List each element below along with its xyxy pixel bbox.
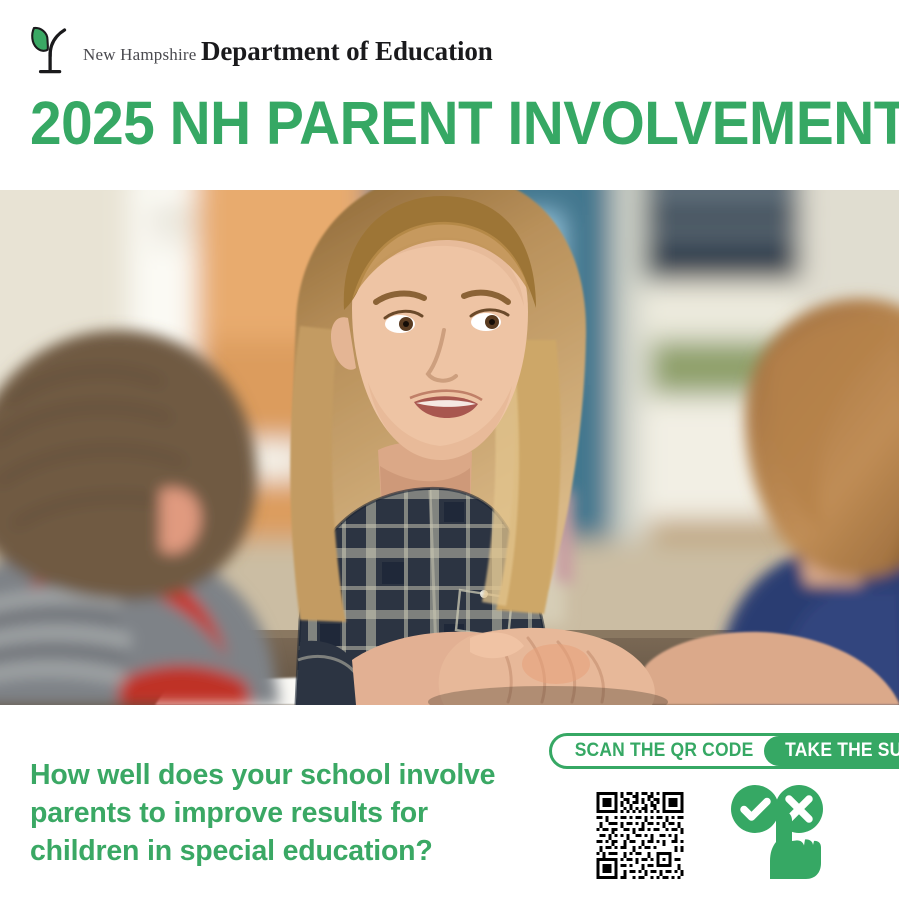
sprout-seedling-icon <box>26 26 72 76</box>
qr-code-icon[interactable] <box>590 792 690 879</box>
take-survey-label: TAKE THE SURVEY <box>785 740 899 762</box>
poster-header: New Hampshire Department of Education 20… <box>0 0 899 190</box>
survey-question: How well does your school involve parent… <box>30 756 530 871</box>
survey-answer-icons <box>726 783 830 883</box>
hero-photo <box>0 190 899 705</box>
take-survey-button[interactable]: TAKE THE SURVEY <box>764 736 899 766</box>
page-title: 2025 NH PARENT INVOLVEMENT SURVEY: <box>30 93 830 154</box>
scan-qr-label: SCAN THE QR CODE <box>561 736 765 766</box>
check-circle-icon <box>731 785 779 833</box>
logo-wordmark: New Hampshire Department of Education <box>83 38 493 65</box>
logo-department-line: Department of Education <box>201 36 493 66</box>
poster-footer: How well does your school involve parent… <box>0 705 899 899</box>
logo-state-line: New Hampshire <box>83 45 197 64</box>
nhdoe-logo[interactable]: New Hampshire Department of Education <box>26 26 493 76</box>
hero-photo-illustration <box>0 190 899 705</box>
cta-badge[interactable]: SCAN THE QR CODE TAKE THE SURVEY <box>549 733 899 769</box>
survey-poster: New Hampshire Department of Education 20… <box>0 0 899 899</box>
